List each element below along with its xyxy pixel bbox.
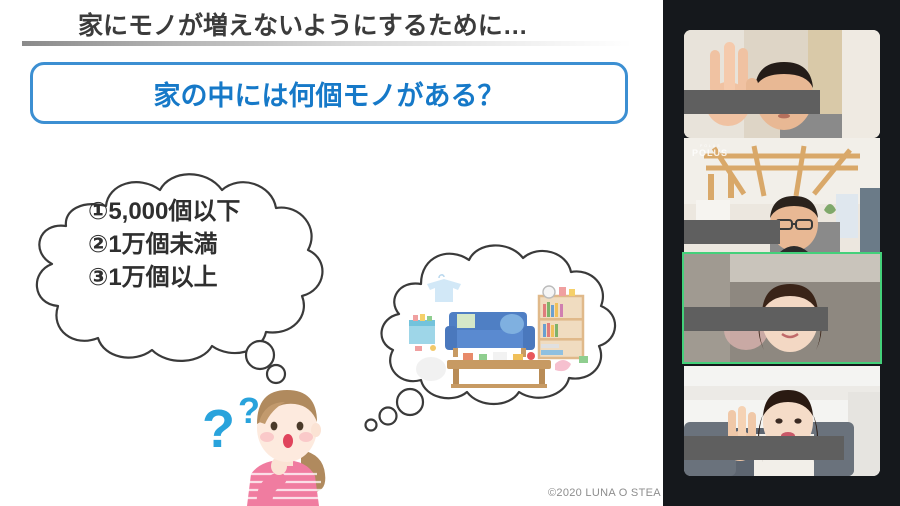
name-label-redacted: [684, 307, 828, 331]
option-item: ①5,000個以下: [88, 196, 388, 227]
participant-tile-4[interactable]: [684, 366, 880, 476]
thinking-woman-illustration: [205, 378, 365, 506]
hanging-shirt-icon: [427, 275, 461, 302]
option-item: ②1万個未満: [88, 229, 388, 260]
name-label-redacted: [684, 90, 820, 114]
participant-tile-3[interactable]: [684, 254, 880, 362]
name-label-redacted: [684, 436, 844, 460]
coffee-table-icon: [447, 352, 551, 388]
question-box: 家の中には何個モノがある？: [30, 62, 628, 124]
copyright-notice: ©2020 LUNA O STEA: [548, 487, 661, 499]
screen-root: 家にモノが増えないようにするために… 家の中には何個モノがある？ ①5,000個…: [0, 0, 900, 506]
room-thought-bubble: [355, 240, 645, 440]
video-feed: [684, 30, 880, 138]
video-participants-panel: P O L U S POLUS: [663, 0, 900, 506]
toy-icon: [555, 360, 571, 371]
participant-tile-2[interactable]: P O L U S POLUS: [684, 138, 880, 252]
option-item: ③1万個以上: [88, 262, 388, 293]
toy-icon: [579, 356, 588, 363]
page-title: 家にモノが増えないようにするために…: [78, 6, 528, 42]
polus-watermark: P O L U S POLUS: [692, 144, 728, 158]
name-label-redacted: [684, 220, 780, 244]
living-room-illustration: [403, 268, 603, 388]
question-text: 家の中には何個モノがある？: [154, 74, 505, 113]
bookshelf-icon: [539, 286, 583, 358]
options-thought-bubble: ①5,000個以下 ②1万個未満 ③1万個以上: [8, 148, 398, 398]
options-list: ①5,000個以下 ②1万個未満 ③1万個以上: [88, 196, 388, 293]
participant-tile-1[interactable]: [684, 30, 880, 138]
sofa-icon: [445, 312, 535, 357]
toy-box-icon: [409, 314, 436, 351]
title-divider: [22, 41, 632, 46]
presentation-slide: 家にモノが増えないようにするために… 家の中には何個モノがある？ ①5,000個…: [0, 0, 663, 506]
